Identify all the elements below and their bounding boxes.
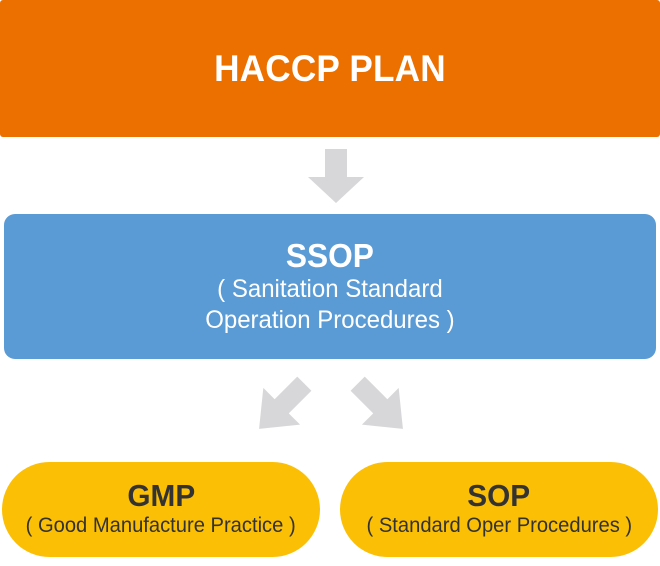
node-sop-subtitle: ( Standard Oper Procedures ): [366, 513, 632, 539]
node-haccp-plan: HACCP PLAN: [0, 0, 660, 137]
connector-ssop-to-gmp: [250, 372, 312, 442]
connector-ssop-to-sop: [350, 372, 412, 442]
node-haccp-plan-title: HACCP PLAN: [214, 50, 446, 87]
node-ssop-title: SSOP: [286, 238, 374, 274]
node-gmp: GMP ( Good Manufacture Practice ): [2, 462, 320, 557]
node-gmp-subtitle: ( Good Manufacture Practice ): [26, 513, 296, 539]
connector-haccp-to-ssop: [308, 149, 364, 203]
node-ssop-subtitle-line-2: Operation Procedures ): [205, 305, 454, 337]
arrow-down-left-icon: [250, 372, 312, 442]
node-ssop: SSOP ( Sanitation Standard Operation Pro…: [4, 214, 656, 359]
node-sop-title: SOP: [468, 480, 531, 513]
arrow-down-right-icon: [350, 372, 412, 442]
node-gmp-title: GMP: [127, 480, 195, 513]
node-sop: SOP ( Standard Oper Procedures ): [340, 462, 658, 557]
node-ssop-subtitle-line-1: ( Sanitation Standard: [205, 274, 454, 306]
node-ssop-subtitle: ( Sanitation Standard Operation Procedur…: [205, 274, 454, 338]
haccp-hierarchy-diagram: HACCP PLAN SSOP ( Sanitation Standard Op…: [0, 0, 660, 566]
arrow-down-icon: [308, 149, 364, 203]
